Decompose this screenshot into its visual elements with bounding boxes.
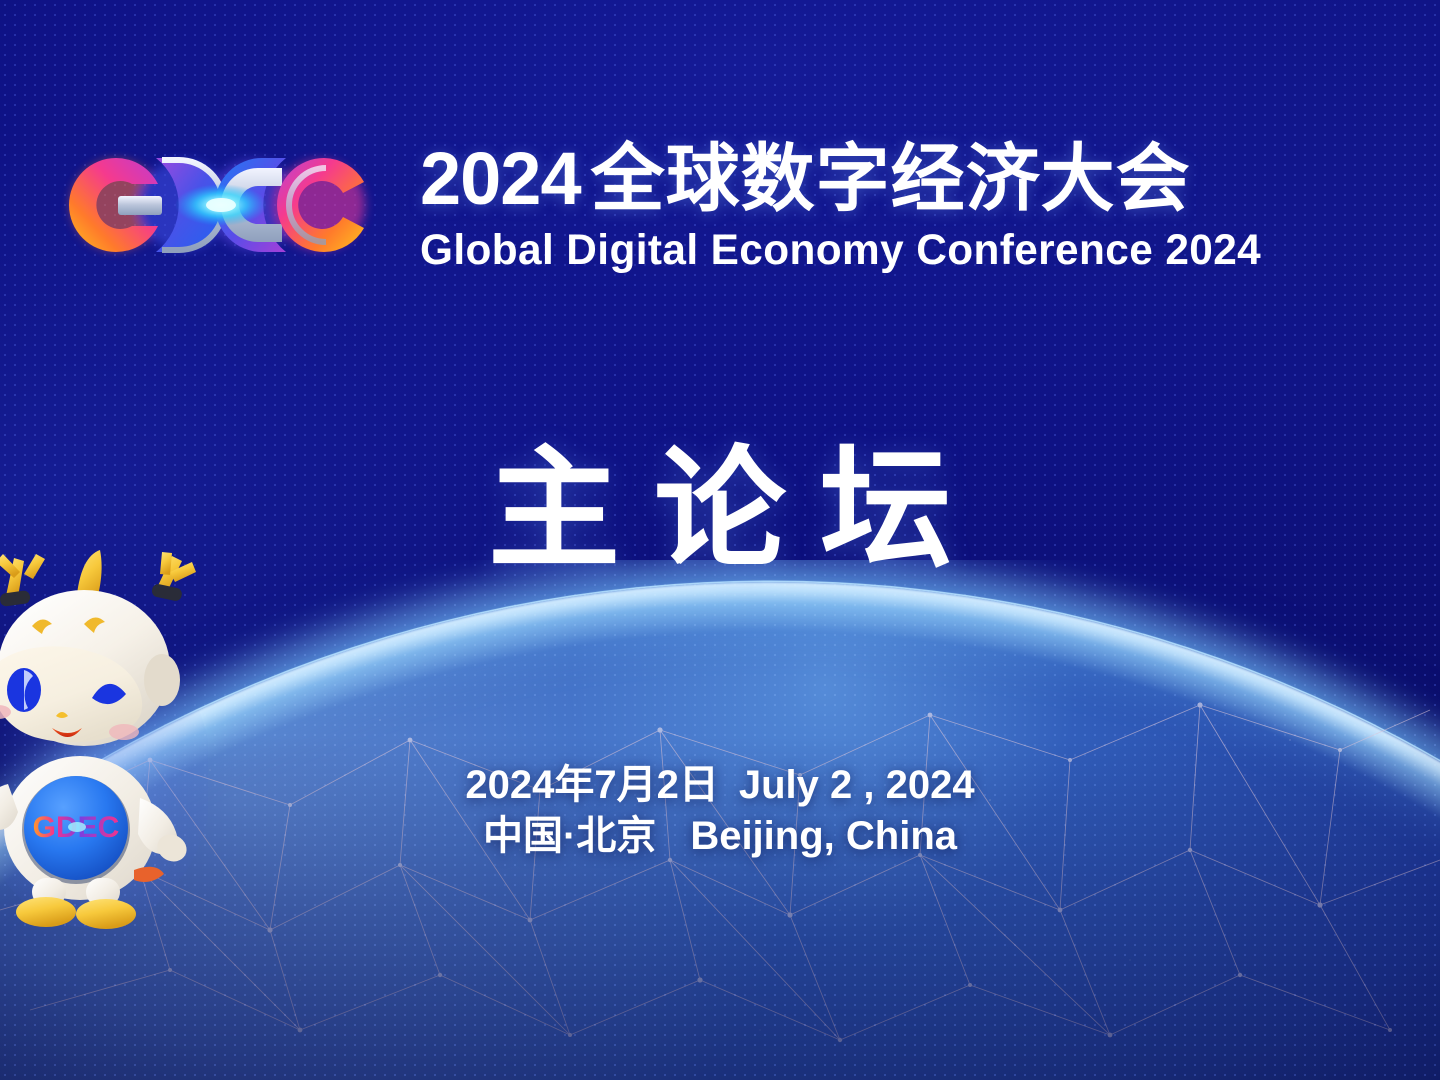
event-date-cn: 2024年7月2日 — [465, 763, 718, 807]
header: 2024全球数字经济大会 Global Digital Economy Conf… — [58, 138, 1274, 272]
mascot-antler-band-left — [0, 590, 31, 607]
mascot-antler-band-right — [151, 583, 183, 602]
mascot-antler-left — [0, 554, 45, 597]
mascot-badge-logo: GDEC — [33, 811, 120, 844]
title-cn-text: 全球数字经济大会 — [591, 137, 1191, 220]
mascot-blush-right — [109, 724, 139, 740]
mascot-boot-right — [76, 899, 136, 929]
title-block: 2024全球数字经济大会 Global Digital Economy Conf… — [420, 138, 1274, 272]
mascot-svg: GDEC — [0, 548, 208, 936]
event-meta: 2024年7月2日July 2 , 2024 中国·北京Beijing, Chi… — [0, 760, 1440, 862]
page-title-en: Global Digital Economy Conference 2024 — [420, 229, 1261, 272]
event-location-en: Beijing, China — [690, 814, 957, 858]
gdec-logo — [58, 146, 376, 264]
event-location-cn: 中国·北京 — [483, 814, 656, 858]
event-date-en: July 2 , 2024 — [739, 763, 975, 807]
mascot-boot-left — [16, 897, 76, 927]
gdec-logo-svg — [58, 146, 376, 264]
page-title-cn: 2024全球数字经济大会 — [420, 142, 1274, 216]
event-date-line: 2024年7月2日July 2 , 2024 — [0, 760, 1440, 811]
gdec-mascot: GDEC — [0, 548, 208, 936]
title-year: 2024 — [420, 137, 581, 220]
main-heading: 主论坛 — [0, 444, 1440, 576]
poster-canvas: 2024全球数字经济大会 Global Digital Economy Conf… — [0, 0, 1440, 1080]
mascot-ear-right — [144, 654, 180, 706]
event-location-line: 中国·北京Beijing, China — [0, 811, 1440, 862]
